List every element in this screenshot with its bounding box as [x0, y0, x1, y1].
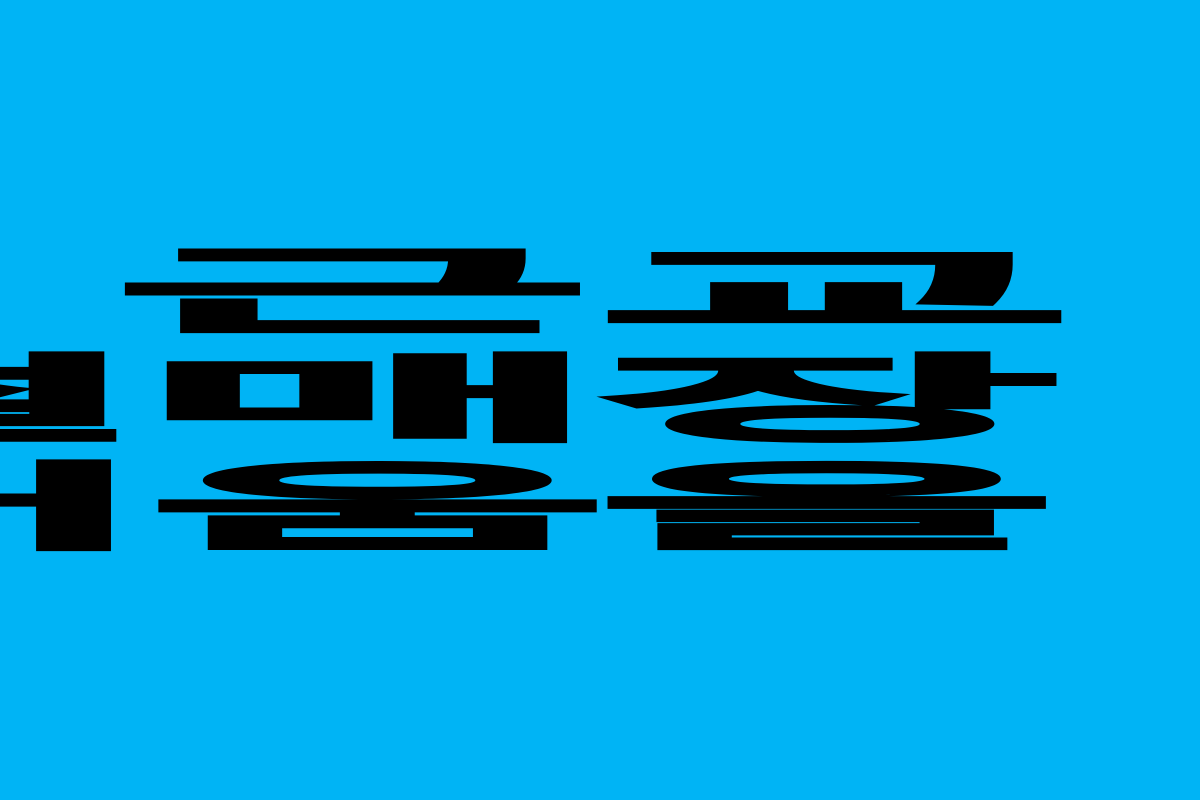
- headline-line-1: 대구 근교 경북: [0, 232, 1200, 353]
- banner-canvas: 대구 근교 경북 지역 눈썰매장 추천으로 겨울의 즐거움을 만끽하세요: [0, 0, 1200, 800]
- headline-line-3: 겨울의 즐거움을 만끽하세요: [0, 448, 1200, 569]
- headline-line-2: 지역 눈썰매장 추천으로: [0, 340, 1200, 461]
- headline-block: 대구 근교 경북 지역 눈썰매장 추천으로 겨울의 즐거움을 만끽하세요: [0, 238, 1200, 562]
